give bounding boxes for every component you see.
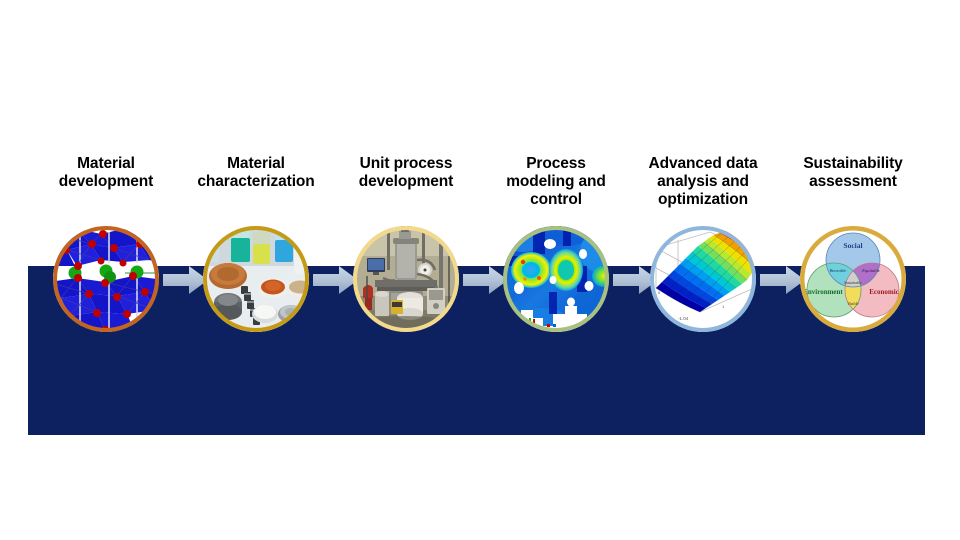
diagram-canvas: Material development <box>0 0 960 540</box>
workflow-step-advanced-data-analysis-and-optimization[interactable]: Advanced data analysis and optimization <box>628 155 778 209</box>
venn-label-economic: Economic <box>869 288 899 296</box>
step-image-wrap <box>53 226 159 332</box>
laboratory-samples-photo <box>203 226 309 332</box>
venn-label-equitable: Equitable <box>861 268 880 273</box>
step-image-wrap: 0 0 1 -1.04 <box>650 226 756 332</box>
workflow-step-process-modeling-and-control[interactable]: Process modeling and control <box>481 155 631 209</box>
workflow-step-sustainability-assessment[interactable]: Sustainability assessment <box>778 155 928 191</box>
cfd-simulation-contour-image <box>503 226 609 332</box>
response-surface-3d-plot: 0 0 1 -1.04 <box>650 226 756 332</box>
process-equipment-photo <box>353 226 459 332</box>
step-label: Material characterization <box>181 155 331 191</box>
step-image-wrap: Social Environment Economic Bearable Equ… <box>800 226 906 332</box>
step-label: Process modeling and control <box>481 155 631 209</box>
step-image-wrap <box>353 226 459 332</box>
step-label: Advanced data analysis and optimization <box>628 155 778 209</box>
workflow-step-material-development[interactable]: Material development <box>31 155 181 191</box>
venn-label-viable: Viable <box>847 301 859 306</box>
step-label: Material development <box>31 155 181 191</box>
venn-label-bearable: Bearable <box>830 268 847 273</box>
workflow-step-unit-process-development[interactable]: Unit process development <box>331 155 481 191</box>
venn-label-environment: Environment <box>803 288 843 296</box>
venn-label-sustainable: Sustainable <box>844 281 862 285</box>
workflow-step-material-characterization[interactable]: Material characterization <box>181 155 331 191</box>
sustainability-venn-diagram: Social Environment Economic Bearable Equ… <box>800 226 906 332</box>
step-label: Sustainability assessment <box>778 155 928 191</box>
step-image-wrap <box>503 226 609 332</box>
venn-label-social: Social <box>843 241 862 250</box>
crystal-structure-image <box>53 226 159 332</box>
axis-tick-label: -1.04 <box>678 316 689 321</box>
step-label: Unit process development <box>331 155 481 191</box>
step-image-wrap <box>203 226 309 332</box>
